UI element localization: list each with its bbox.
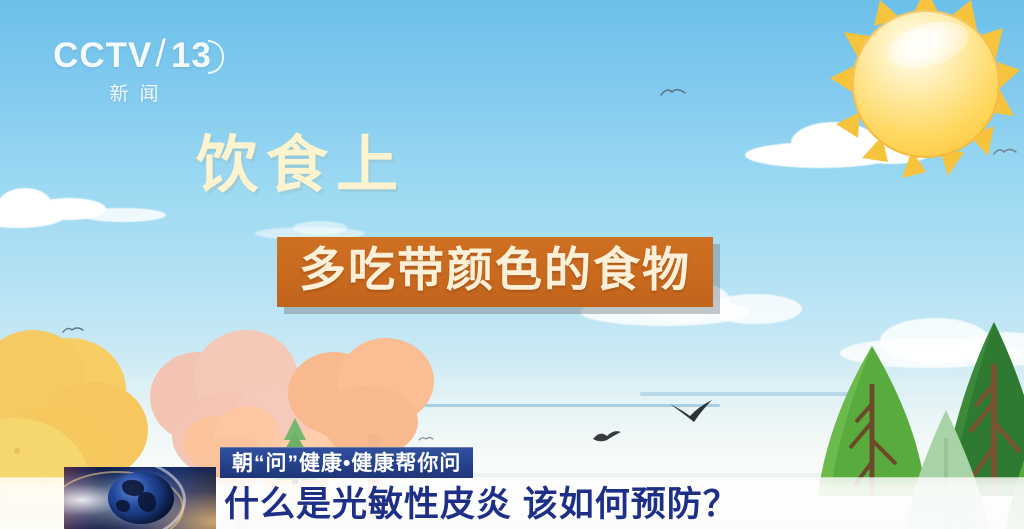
graphic-kicker: 饮食上 xyxy=(196,133,406,198)
channel-logo: CCTV / 13 新闻 xyxy=(54,36,214,106)
cctv-globe-icon xyxy=(64,467,216,529)
program-title-bar: 朝“问”健康•健康帮你问 xyxy=(220,447,473,478)
bird-icon xyxy=(592,428,622,443)
channel-number: 13 xyxy=(170,38,215,73)
globe-sphere xyxy=(108,472,174,524)
graphic-banner: 多吃带颜色的食物 xyxy=(277,237,713,307)
bird-icon xyxy=(660,86,686,98)
globe-landmass xyxy=(138,492,156,512)
bird-icon xyxy=(62,325,84,335)
program-title: 朝“问”健康•健康帮你问 xyxy=(232,453,461,474)
bird-icon xyxy=(993,146,1017,157)
news-headline: 什么是光敏性皮炎 该如何预防？ xyxy=(224,485,739,525)
broadcast-frame: CCTV / 13 新闻 饮食上 多吃带颜色的食物 朝“问”健康•健康帮你问 什… xyxy=(0,0,1024,529)
bird-icon xyxy=(668,398,714,424)
graphic-banner-text: 多吃带颜色的食物 xyxy=(299,245,691,296)
bird-icon xyxy=(418,435,434,442)
channel-logo-separator: / xyxy=(155,35,167,73)
channel-logo-subtitle: 新闻 xyxy=(54,79,214,106)
channel-name: CCTV xyxy=(53,38,152,73)
channel-logo-main: CCTV / 13 xyxy=(54,36,214,74)
globe-landmass xyxy=(116,500,130,512)
